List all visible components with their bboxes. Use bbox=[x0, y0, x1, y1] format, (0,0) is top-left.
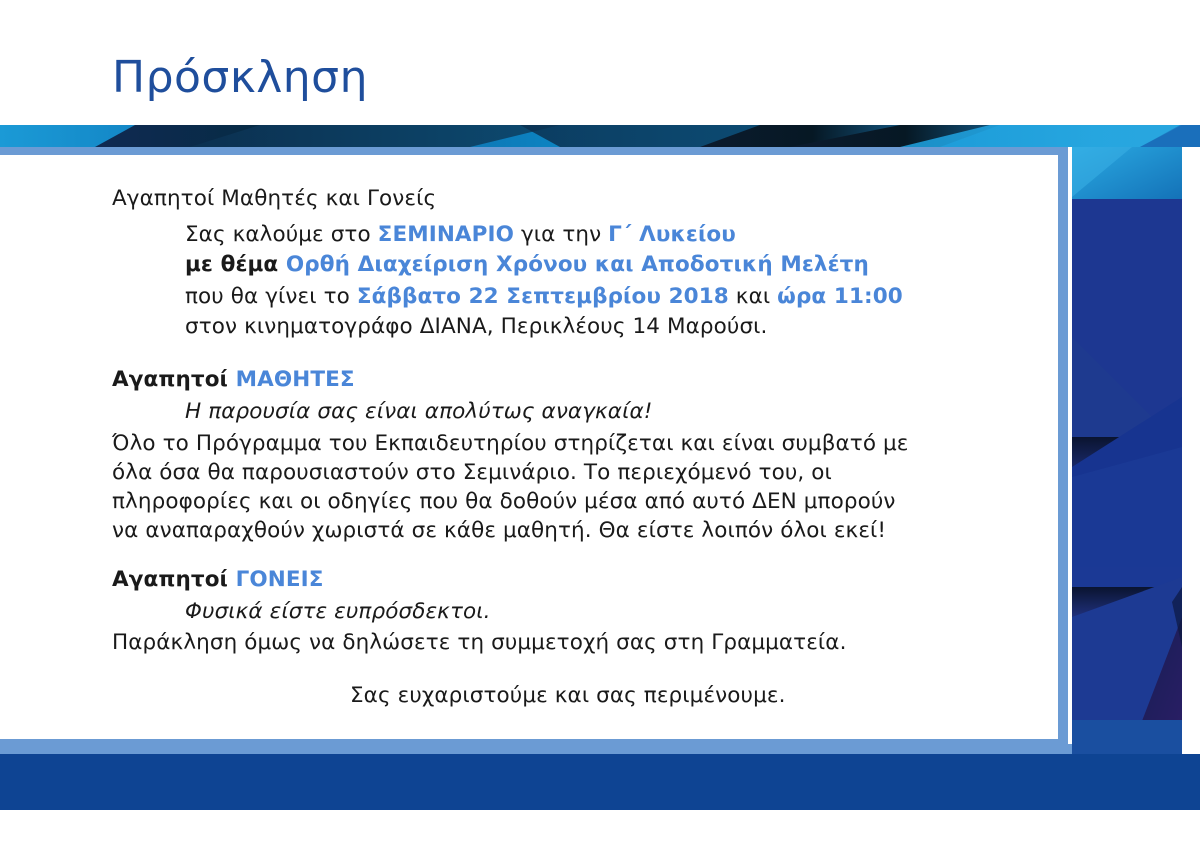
parents-request-line: Παράκληση όμως να δηλώσετε τη συμμετοχή … bbox=[112, 629, 847, 657]
bottom-dark-bar bbox=[0, 754, 1200, 810]
greeting-text: Αγαπητοί Μαθητές και Γονείς bbox=[112, 186, 436, 211]
closing-text: Σας ευχαριστούμε και σας περιμένουμε. bbox=[350, 683, 786, 708]
students-heading-keyword: ΜΑΘΗΤΕΣ bbox=[236, 367, 355, 392]
students-heading: Αγαπητοί ΜΑΘΗΤΕΣ bbox=[112, 366, 355, 394]
venue-text: στον κινηματογράφο ΔΙΑΝΑ, Περικλέους 14 … bbox=[185, 314, 768, 339]
students-heading-prefix: Αγαπητοί bbox=[112, 367, 236, 392]
invite-line1-prefix: Σας καλούμε στο bbox=[185, 222, 378, 247]
invite-line-3: που θα γίνει το Σάββατο 22 Σεπτεμβρίου 2… bbox=[185, 283, 903, 311]
page-title: Πρόσκληση bbox=[112, 54, 368, 102]
banner-shapes bbox=[0, 125, 1200, 147]
theme-label: με θέμα bbox=[185, 252, 278, 277]
date-line-prefix: που θα γίνει το bbox=[185, 284, 357, 309]
date-line-mid: και bbox=[729, 284, 777, 309]
top-decorative-banner bbox=[0, 125, 1200, 147]
event-time: ώρα 11:00 bbox=[777, 284, 903, 309]
invitation-slide: Πρόσκληση bbox=[0, 0, 1200, 856]
grade-keyword: Γ΄ Λυκείου bbox=[608, 222, 736, 247]
students-paragraph-text: Όλο το Πρόγραμμα του Εκπαιδευτηρίου στηρ… bbox=[112, 431, 909, 543]
parents-heading: Αγαπητοί ΓΟΝΕΙΣ bbox=[112, 566, 324, 594]
right-panel-shapes bbox=[1072, 147, 1182, 747]
students-italic-line: Η παρουσία σας είναι απολύτως αναγκαία! bbox=[185, 398, 652, 426]
parents-heading-keyword: ΓΟΝΕΙΣ bbox=[236, 567, 324, 592]
invitation-body: Αγαπητοί Μαθητές και Γονείς Σας καλούμε … bbox=[0, 155, 1058, 739]
parents-italic-text: Φυσικά είστε ευπρόσδεκτοι. bbox=[185, 599, 491, 624]
invite-line-4-venue: στον κινηματογράφο ΔΙΑΝΑ, Περικλέους 14 … bbox=[185, 313, 768, 341]
bottom-right-accent bbox=[1072, 720, 1182, 754]
right-decorative-panel bbox=[1072, 147, 1182, 747]
students-paragraph: Όλο το Πρόγραμμα του Εκπαιδευτηρίου στηρ… bbox=[112, 430, 912, 546]
invite-line1-mid: για την bbox=[514, 222, 608, 247]
closing-line: Σας ευχαριστούμε και σας περιμένουμε. bbox=[350, 682, 786, 710]
theme-title: Ορθή Διαχείριση Χρόνου και Αποδοτική Μελ… bbox=[278, 252, 869, 277]
greeting-line: Αγαπητοί Μαθητές και Γονείς bbox=[112, 185, 436, 213]
students-italic-text: Η παρουσία σας είναι απολύτως αναγκαία! bbox=[185, 399, 652, 424]
invite-line-2: με θέμα Ορθή Διαχείριση Χρόνου και Αποδο… bbox=[185, 251, 869, 279]
parents-request-text: Παράκληση όμως να δηλώσετε τη συμμετοχή … bbox=[112, 630, 847, 655]
event-date: Σάββατο 22 Σεπτεμβρίου 2018 bbox=[357, 284, 729, 309]
bottom-light-bar bbox=[0, 744, 1072, 754]
parents-italic-line: Φυσικά είστε ευπρόσδεκτοι. bbox=[185, 598, 491, 626]
right-panel-tail bbox=[1182, 147, 1200, 747]
parents-heading-prefix: Αγαπητοί bbox=[112, 567, 236, 592]
invite-line-1: Σας καλούμε στο ΣΕΜΙΝΑΡΙΟ για την Γ΄ Λυκ… bbox=[185, 221, 736, 249]
seminar-keyword: ΣΕΜΙΝΑΡΙΟ bbox=[378, 222, 514, 247]
